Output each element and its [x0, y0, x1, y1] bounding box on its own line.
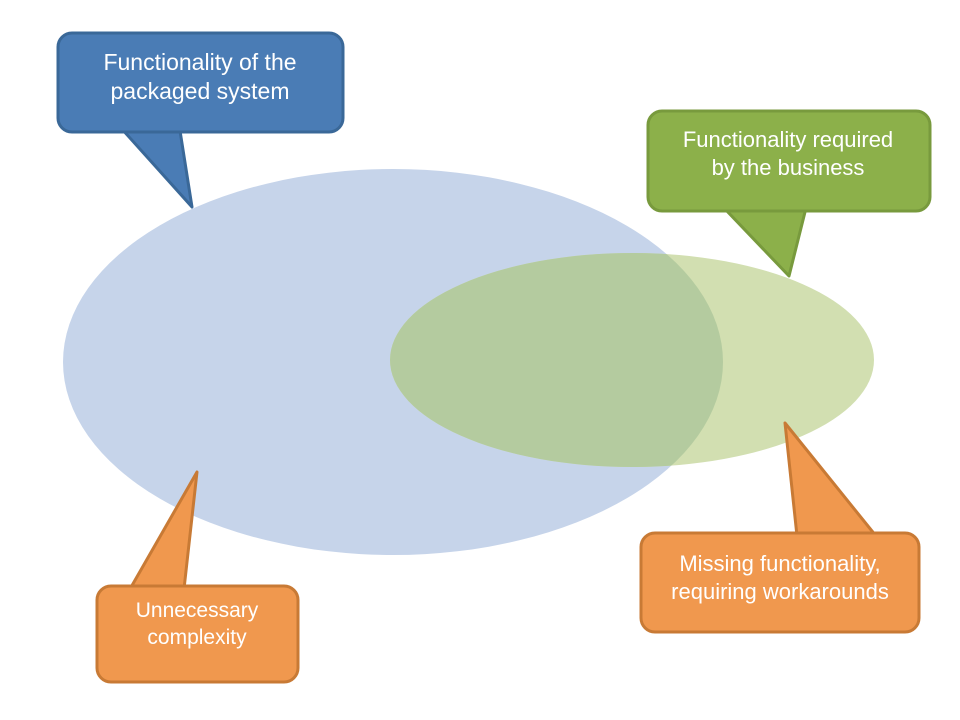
- business-required-callout-body[interactable]: [648, 111, 930, 211]
- missing-functionality-callout-tail: [785, 423, 876, 536]
- missing-functionality-callout-body[interactable]: [641, 533, 919, 632]
- unnecessary-complexity-callout-body[interactable]: [97, 586, 298, 682]
- packaged-system-callout-body[interactable]: [58, 33, 343, 132]
- business-required-callout[interactable]: [648, 111, 930, 276]
- diagram-canvas: Functionality of the packaged system Fun…: [0, 0, 960, 720]
- venn-diagram-svg: [0, 0, 960, 720]
